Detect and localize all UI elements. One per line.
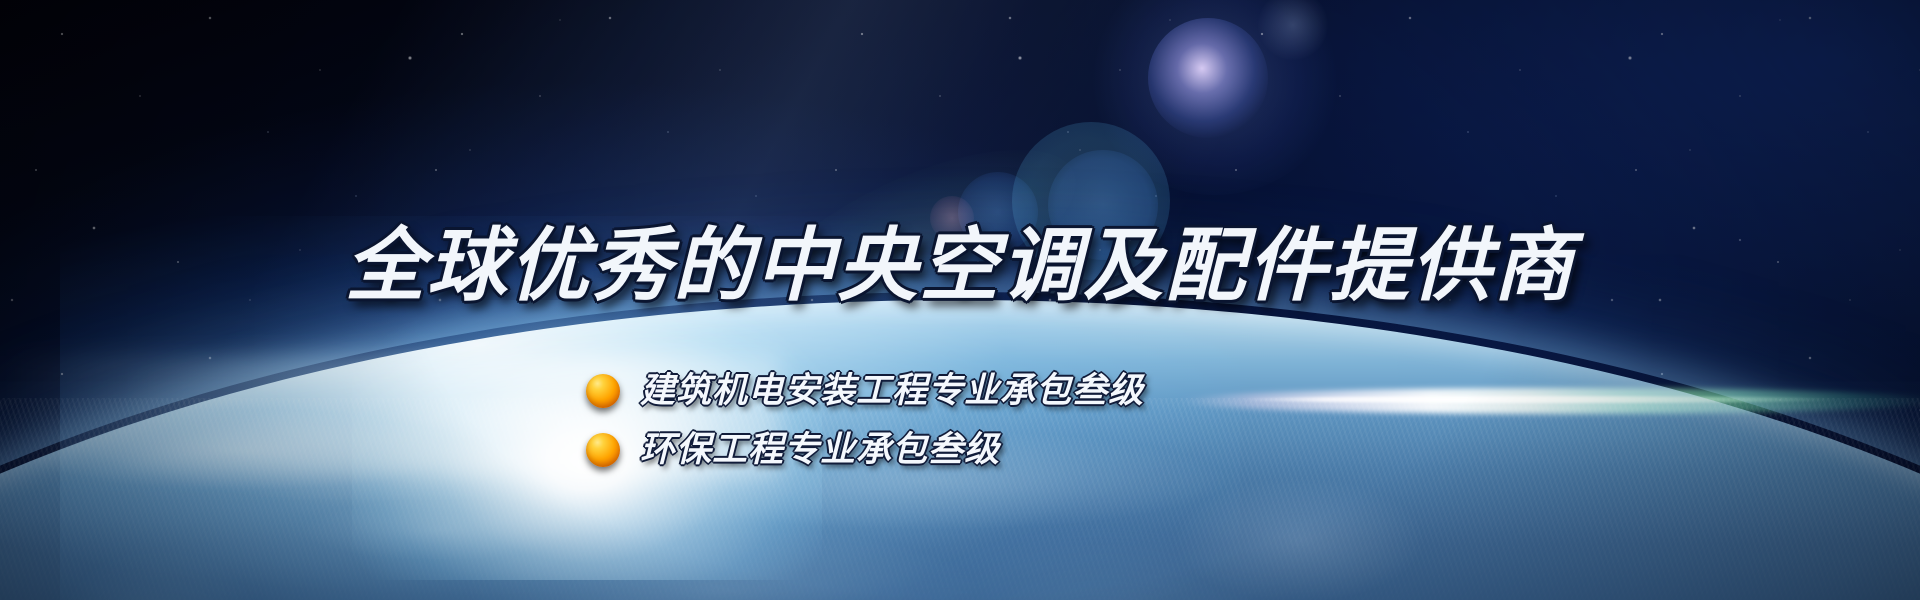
gold-sphere-bullet-icon	[586, 374, 620, 408]
list-item: 环保工程专业承包叁级	[586, 431, 1144, 470]
qualification-label: 建筑机电安装工程专业承包叁级	[640, 372, 1144, 411]
list-item: 建筑机电安装工程专业承包叁级	[586, 372, 1144, 411]
gold-sphere-bullet-icon	[586, 433, 620, 467]
banner-headline: 全球优秀的中央空调及配件提供商	[0, 226, 1920, 306]
qualification-label: 环保工程专业承包叁级	[640, 431, 1000, 470]
banner-content: 全球优秀的中央空调及配件提供商 建筑机电安装工程专业承包叁级 环保工程专业承包叁…	[0, 0, 1920, 600]
qualification-list: 建筑机电安装工程专业承包叁级 环保工程专业承包叁级	[586, 372, 1144, 469]
hero-banner: 全球优秀的中央空调及配件提供商 建筑机电安装工程专业承包叁级 环保工程专业承包叁…	[0, 0, 1920, 600]
